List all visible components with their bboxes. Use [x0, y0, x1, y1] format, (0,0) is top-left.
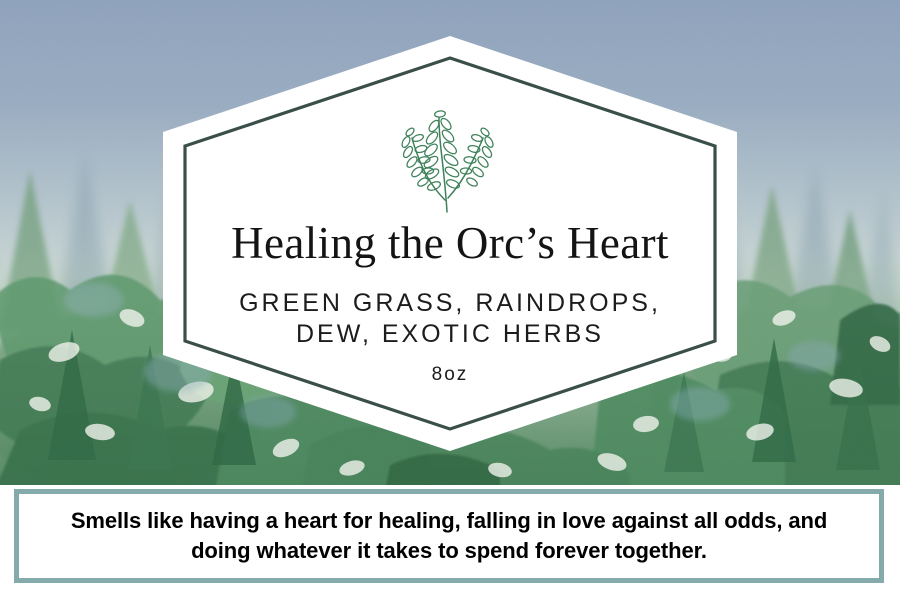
hexagon-label-badge: Healing the Orc’s Heart GREEN GRASS, RAI…	[163, 36, 737, 451]
description-banner: Smells like having a heart for healing, …	[14, 489, 884, 583]
product-label-canvas: Healing the Orc’s Heart GREEN GRASS, RAI…	[0, 0, 900, 600]
herb-sprig-svg	[385, 102, 515, 214]
description-text: Smells like having a heart for healing, …	[49, 506, 849, 567]
scent-notes: GREEN GRASS, RAINDROPS, DEW, EXOTIC HERB…	[210, 288, 690, 351]
scent-notes-line-2: DEW, EXOTIC HERBS	[210, 319, 690, 351]
badge-content: Healing the Orc’s Heart GREEN GRASS, RAI…	[163, 36, 737, 451]
product-title: Healing the Orc’s Heart	[231, 220, 669, 268]
product-size: 8oz	[432, 364, 469, 386]
scent-notes-line-1: GREEN GRASS, RAINDROPS,	[210, 288, 690, 320]
herb-sprig-icon	[385, 102, 515, 214]
